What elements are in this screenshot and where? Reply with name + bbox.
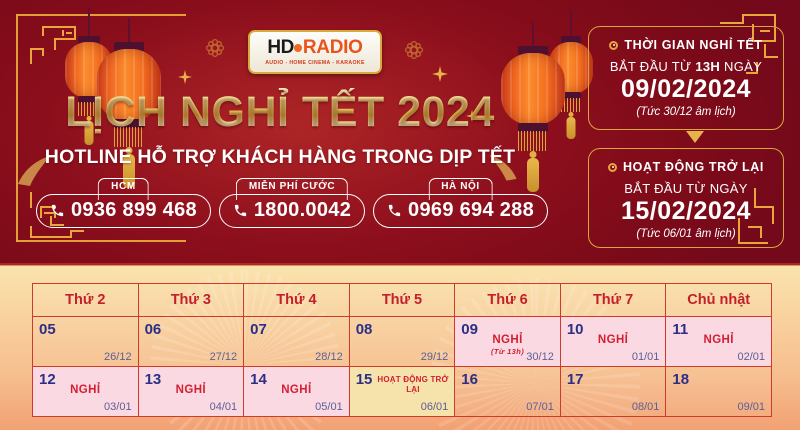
hotline-item-tollfree: MIỄN PHÍ CƯỚC 1800.0042 <box>219 178 365 228</box>
calendar-cell-holiday[interactable]: 10 NGHỈ 01/01 <box>560 317 666 367</box>
calendar-cell-holiday[interactable]: 09 NGHỈ (Từ 13h) 30/12 <box>455 317 561 367</box>
status-text: NGHỈ <box>704 334 734 346</box>
phone-icon <box>50 203 65 218</box>
calendar-cell[interactable]: 17 08/01 <box>560 367 666 417</box>
day-number: 17 <box>567 371 584 388</box>
hd-radio-logo: HD RADIO AUDIO - HOME CINEMA - KARAOKE <box>248 30 382 74</box>
lunar-date: 05/01 <box>315 401 343 413</box>
hotline-number-tollfree: 1800.0042 <box>254 199 351 222</box>
day-number: 18 <box>672 371 689 388</box>
hotline-item-hcm: HCM 0936 899 468 <box>36 178 211 228</box>
calendar-header-wed: Thứ 4 <box>244 284 350 317</box>
hotline-pill-hcm[interactable]: 0936 899 468 <box>36 194 211 228</box>
calendar-header-row: Thứ 2 Thứ 3 Thứ 4 Thứ 5 Thứ 6 Thứ 7 Chủ … <box>33 284 772 317</box>
logo-dot-icon <box>294 44 302 52</box>
tet-holiday-banner-page: HD RADIO AUDIO - HOME CINEMA - KARAOKE L… <box>0 0 800 430</box>
arrow-down-icon <box>686 131 704 143</box>
calendar-cell[interactable]: 08 29/12 <box>349 317 455 367</box>
lunar-date: 06/01 <box>421 401 449 413</box>
status-text: NGHỈ <box>492 334 522 346</box>
status-badge: NGHỈ <box>666 334 771 346</box>
lunar-date: 02/01 <box>737 351 765 363</box>
calendar-header-tue: Thứ 3 <box>138 284 244 317</box>
info-lunar-reopen: (Tức 06/01 âm lịch) <box>589 228 783 240</box>
info-box-holiday-start: THỜI GIAN NGHỈ TẾT BẮT ĐẦU TỪ 13H NGÀY 0… <box>588 26 784 130</box>
info-line-reopen: BẮT ĐẦU TỪ NGÀY <box>589 181 783 196</box>
day-number: 07 <box>250 321 267 338</box>
calendar-cell[interactable]: 06 27/12 <box>138 317 244 367</box>
sparkle-icon-right <box>432 66 448 82</box>
calendar-header-mon: Thứ 2 <box>33 284 139 317</box>
status-text: NGHỈ <box>70 384 100 396</box>
calendar-cell-holiday[interactable]: 14 NGHỈ 05/01 <box>244 367 350 417</box>
sparkle-icon-left <box>178 70 192 84</box>
phone-icon <box>387 203 402 218</box>
hotline-item-hanoi: HÀ NỘI 0969 694 288 <box>373 178 548 228</box>
status-text: NGHỈ <box>281 384 311 396</box>
status-text: HOẠT ĐỘNG TRỞ LẠI <box>376 375 451 395</box>
hotline-number-hanoi: 0969 694 288 <box>408 199 534 222</box>
info-date-holiday-start: 09/02/2024 <box>589 75 783 104</box>
lunar-date: 09/01 <box>737 401 765 413</box>
info-heading-reopen: HOẠT ĐỘNG TRỞ LẠI <box>589 160 783 174</box>
frame-line-bottom <box>16 240 186 242</box>
lunar-date: 03/01 <box>104 401 132 413</box>
info-heading-holiday-start: THỜI GIAN NGHỈ TẾT <box>589 38 783 52</box>
status-badge: NGHỈ <box>33 384 138 396</box>
hotline-number-hcm: 0936 899 468 <box>71 199 197 222</box>
info-heading-text: HOẠT ĐỘNG TRỞ LẠI <box>623 160 764 174</box>
info-line-strong: 13H <box>695 59 720 74</box>
section-divider <box>0 263 800 266</box>
flower-ornament-left <box>205 38 225 58</box>
status-badge: NGHỈ <box>244 384 349 396</box>
lunar-date: 27/12 <box>210 351 238 363</box>
calendar-cell-holiday[interactable]: 13 NGHỈ 04/01 <box>138 367 244 417</box>
logo-radio-text: RADIO <box>303 38 363 57</box>
calendar-cell-holiday[interactable]: 11 NGHỈ 02/01 <box>666 317 772 367</box>
day-number: 15 <box>356 371 373 388</box>
info-box-reopen: HOẠT ĐỘNG TRỞ LẠI BẮT ĐẦU TỪ NGÀY 15/02/… <box>588 148 784 248</box>
calendar-header-sun: Chủ nhật <box>666 284 772 317</box>
bullet-ring-icon <box>609 41 618 50</box>
day-number: 08 <box>356 321 373 338</box>
holiday-calendar: Thứ 2 Thứ 3 Thứ 4 Thứ 5 Thứ 6 Thứ 7 Chủ … <box>32 283 772 417</box>
page-title: LỊCH NGHỈ TẾT 2024 <box>0 88 560 137</box>
info-line-prefix: BẮT ĐẦU TỪ <box>610 59 695 74</box>
info-heading-text: THỜI GIAN NGHỈ TẾT <box>624 38 762 52</box>
bullet-ring-icon <box>608 163 617 172</box>
hotline-pill-hanoi[interactable]: 0969 694 288 <box>373 194 548 228</box>
logo-wordmark: HD RADIO <box>267 38 362 57</box>
lunar-date: 08/01 <box>632 401 660 413</box>
calendar-cell-reopen[interactable]: 15 HOẠT ĐỘNG TRỞ LẠI 06/01 <box>349 367 455 417</box>
day-number: 05 <box>39 321 56 338</box>
info-line-suffix: NGÀY <box>720 59 762 74</box>
info-lunar-holiday-start: (Tức 30/12 âm lịch) <box>589 106 783 118</box>
calendar-cell[interactable]: 05 26/12 <box>33 317 139 367</box>
banner-hero: HD RADIO AUDIO - HOME CINEMA - KARAOKE L… <box>0 0 800 265</box>
calendar-cell[interactable]: 16 07/01 <box>455 367 561 417</box>
info-line-holiday-start: BẮT ĐẦU TỪ 13H NGÀY <box>589 59 783 74</box>
lunar-date: 04/01 <box>210 401 238 413</box>
status-text: NGHỈ <box>176 384 206 396</box>
status-text: NGHỈ <box>598 334 628 346</box>
logo-tagline: AUDIO - HOME CINEMA - KARAOKE <box>265 60 365 66</box>
calendar-cell[interactable]: 18 09/01 <box>666 367 772 417</box>
status-badge: NGHỈ <box>561 334 666 346</box>
day-number: 06 <box>145 321 162 338</box>
day-number: 16 <box>461 371 478 388</box>
lunar-date: 01/01 <box>632 351 660 363</box>
hotline-list: HCM 0936 899 468 MIỄN PHÍ CƯỚC 1800.0042 <box>36 178 548 228</box>
calendar-cell[interactable]: 07 28/12 <box>244 317 350 367</box>
page-subtitle: HOTLINE HỖ TRỢ KHÁCH HÀNG TRONG DỊP TẾT <box>0 146 560 169</box>
logo-hd-text: HD <box>267 38 293 57</box>
info-date-reopen: 15/02/2024 <box>589 197 783 226</box>
info-line-prefix: BẮT ĐẦU TỪ NGÀY <box>624 181 747 196</box>
calendar-header-sat: Thứ 7 <box>560 284 666 317</box>
lunar-date: 30/12 <box>526 351 554 363</box>
phone-icon <box>233 203 248 218</box>
lunar-date: 29/12 <box>421 351 449 363</box>
calendar-header-thu: Thứ 5 <box>349 284 455 317</box>
calendar-cell-holiday[interactable]: 12 NGHỈ 03/01 <box>33 367 139 417</box>
calendar-row: 05 26/12 06 27/12 07 28/12 08 29/12 <box>33 317 772 367</box>
calendar-table: Thứ 2 Thứ 3 Thứ 4 Thứ 5 Thứ 6 Thứ 7 Chủ … <box>32 283 772 417</box>
lunar-date: 07/01 <box>526 401 554 413</box>
hotline-pill-tollfree[interactable]: 1800.0042 <box>219 194 365 228</box>
flower-ornament-right <box>404 40 424 60</box>
lunar-date: 26/12 <box>104 351 132 363</box>
lunar-date: 28/12 <box>315 351 343 363</box>
calendar-header-fri: Thứ 6 <box>455 284 561 317</box>
calendar-row: 12 NGHỈ 03/01 13 NGHỈ 04/01 <box>33 367 772 417</box>
status-badge: NGHỈ <box>139 384 244 396</box>
